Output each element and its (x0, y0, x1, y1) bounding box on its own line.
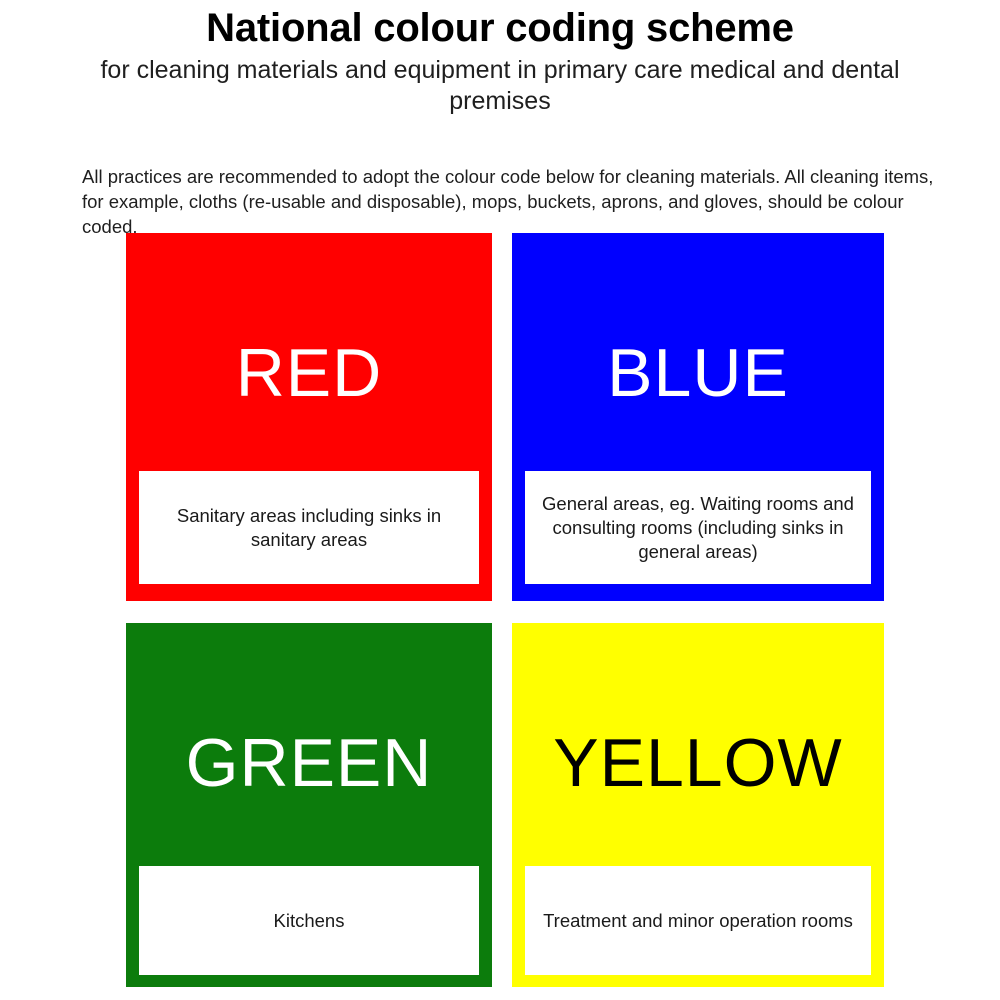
colour-card-word-green: GREEN (126, 729, 492, 797)
colour-card-word-red: RED (126, 339, 492, 407)
poster-page: National colour coding scheme for cleani… (0, 0, 1000, 1000)
intro-paragraph: All practices are recommended to adopt t… (82, 164, 934, 239)
poster-header: National colour coding scheme for cleani… (0, 0, 1000, 117)
colour-card-yellow: YELLOW Treatment and minor operation roo… (512, 623, 884, 987)
page-subtitle: for cleaning materials and equipment in … (90, 52, 910, 117)
colour-card-description-green: Kitchens (139, 866, 479, 975)
colour-card-word-yellow: YELLOW (512, 729, 884, 797)
colour-card-word-blue: BLUE (512, 339, 884, 407)
colour-card-description-yellow: Treatment and minor operation rooms (525, 866, 871, 975)
colour-card-red: RED Sanitary areas including sinks in sa… (126, 233, 492, 601)
colour-card-green: GREEN Kitchens (126, 623, 492, 987)
page-title: National colour coding scheme (0, 0, 1000, 52)
colour-card-blue: BLUE General areas, eg. Waiting rooms an… (512, 233, 884, 601)
colour-card-description-blue: General areas, eg. Waiting rooms and con… (525, 471, 871, 584)
colour-code-grid: RED Sanitary areas including sinks in sa… (126, 233, 884, 987)
colour-card-description-red: Sanitary areas including sinks in sanita… (139, 471, 479, 584)
